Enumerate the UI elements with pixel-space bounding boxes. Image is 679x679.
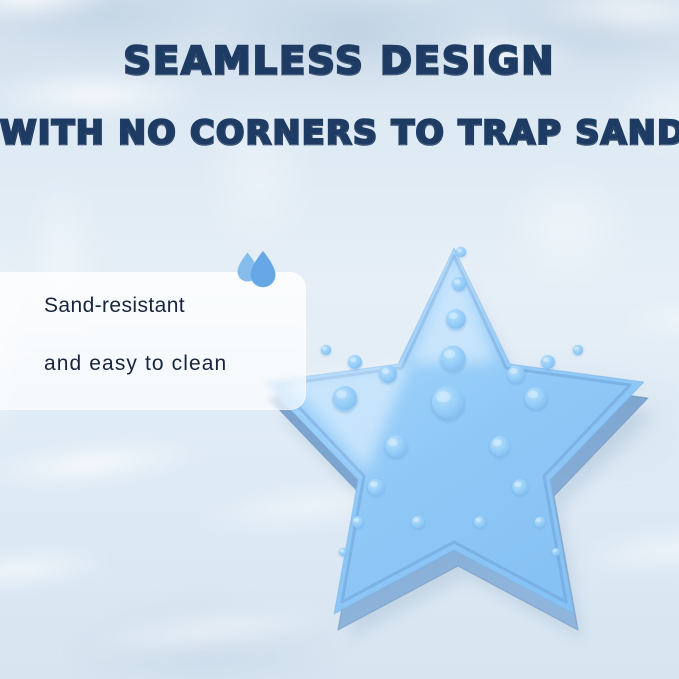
- starfish-bump: [456, 247, 466, 257]
- starfish-bump: [348, 355, 362, 369]
- starfish-bump-highlight: [514, 482, 521, 487]
- starfish-bump: [573, 345, 583, 355]
- starfish-bump-highlight: [454, 279, 460, 284]
- starfish-bump: [379, 365, 396, 382]
- starfish-bump-highlight: [444, 350, 455, 359]
- starfish-bump: [541, 355, 555, 369]
- starfish-bump: [507, 365, 524, 382]
- starfish-bump-highlight: [543, 357, 549, 362]
- starfish-bump-highlight: [350, 357, 356, 362]
- water-droplets-icon: [232, 249, 280, 291]
- starfish-bump: [446, 309, 465, 328]
- headline-block: SEAMLESS DESIGN WITH NO CORNERS TO TRAP …: [0, 42, 679, 149]
- starfish-bump-highlight: [528, 391, 538, 399]
- starfish-bump: [368, 479, 385, 496]
- starfish-bump-highlight: [493, 439, 502, 446]
- starfish-bump: [333, 386, 357, 410]
- starfish-bump: [352, 516, 364, 528]
- starfish-bump: [525, 387, 547, 409]
- starfish-bump: [490, 436, 510, 456]
- starfish-bump: [412, 516, 425, 529]
- starfish-bump: [512, 479, 528, 495]
- starfish-bump: [452, 277, 466, 291]
- starfish-bump-highlight: [436, 391, 451, 402]
- feature-panel-text: Sand-resistant and easy to clean: [26, 272, 326, 410]
- starfish-bump: [339, 548, 347, 556]
- starfish-bump-highlight: [449, 312, 458, 319]
- promo-image: SEAMLESS DESIGN WITH NO CORNERS TO TRAP …: [0, 0, 679, 679]
- starfish-bump-highlight: [340, 549, 344, 552]
- starfish-bump-highlight: [476, 518, 481, 522]
- starfish-bump-highlight: [370, 481, 378, 487]
- starfish-bump-highlight: [510, 368, 518, 374]
- starfish-bump: [385, 435, 407, 457]
- starfish-bump-highlight: [388, 439, 398, 447]
- headline-primary: SEAMLESS DESIGN: [0, 42, 679, 80]
- droplet-front: [251, 251, 276, 287]
- starfish-bump: [432, 386, 464, 418]
- starfish-bump-highlight: [457, 249, 462, 253]
- starfish-bump: [534, 516, 545, 527]
- feature-line-1: Sand-resistant: [44, 294, 326, 318]
- starfish-bump: [441, 346, 466, 371]
- starfish-bump-highlight: [354, 518, 359, 522]
- headline-secondary: WITH NO CORNERS TO TRAP SAND: [0, 116, 679, 149]
- starfish-bump-highlight: [553, 549, 557, 552]
- starfish-bump-highlight: [336, 390, 347, 398]
- feature-line-2: and easy to clean: [44, 352, 326, 376]
- starfish-bump: [474, 516, 486, 528]
- starfish-bump-highlight: [536, 518, 541, 522]
- starfish-bump-highlight: [413, 518, 419, 522]
- starfish-bump: [552, 548, 560, 556]
- starfish-bump-highlight: [574, 347, 579, 351]
- starfish-bump-highlight: [382, 368, 390, 374]
